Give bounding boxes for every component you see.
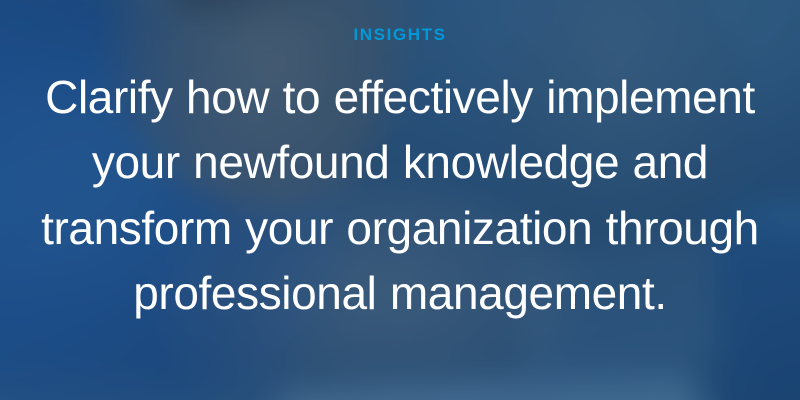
headline-line-4: professional management.: [7, 261, 793, 326]
banner-content: INSIGHTS Clarify how to effectively impl…: [0, 0, 800, 400]
headline-line-2: your newfound knowledge and: [7, 130, 793, 195]
headline: Clarify how to effectively implement you…: [7, 65, 793, 326]
headline-line-1: Clarify how to effectively implement: [7, 65, 793, 130]
headline-line-3: transform your organization through: [7, 196, 793, 261]
insights-banner: INSIGHTS Clarify how to effectively impl…: [0, 0, 800, 400]
eyebrow-label: INSIGHTS: [353, 26, 446, 43]
